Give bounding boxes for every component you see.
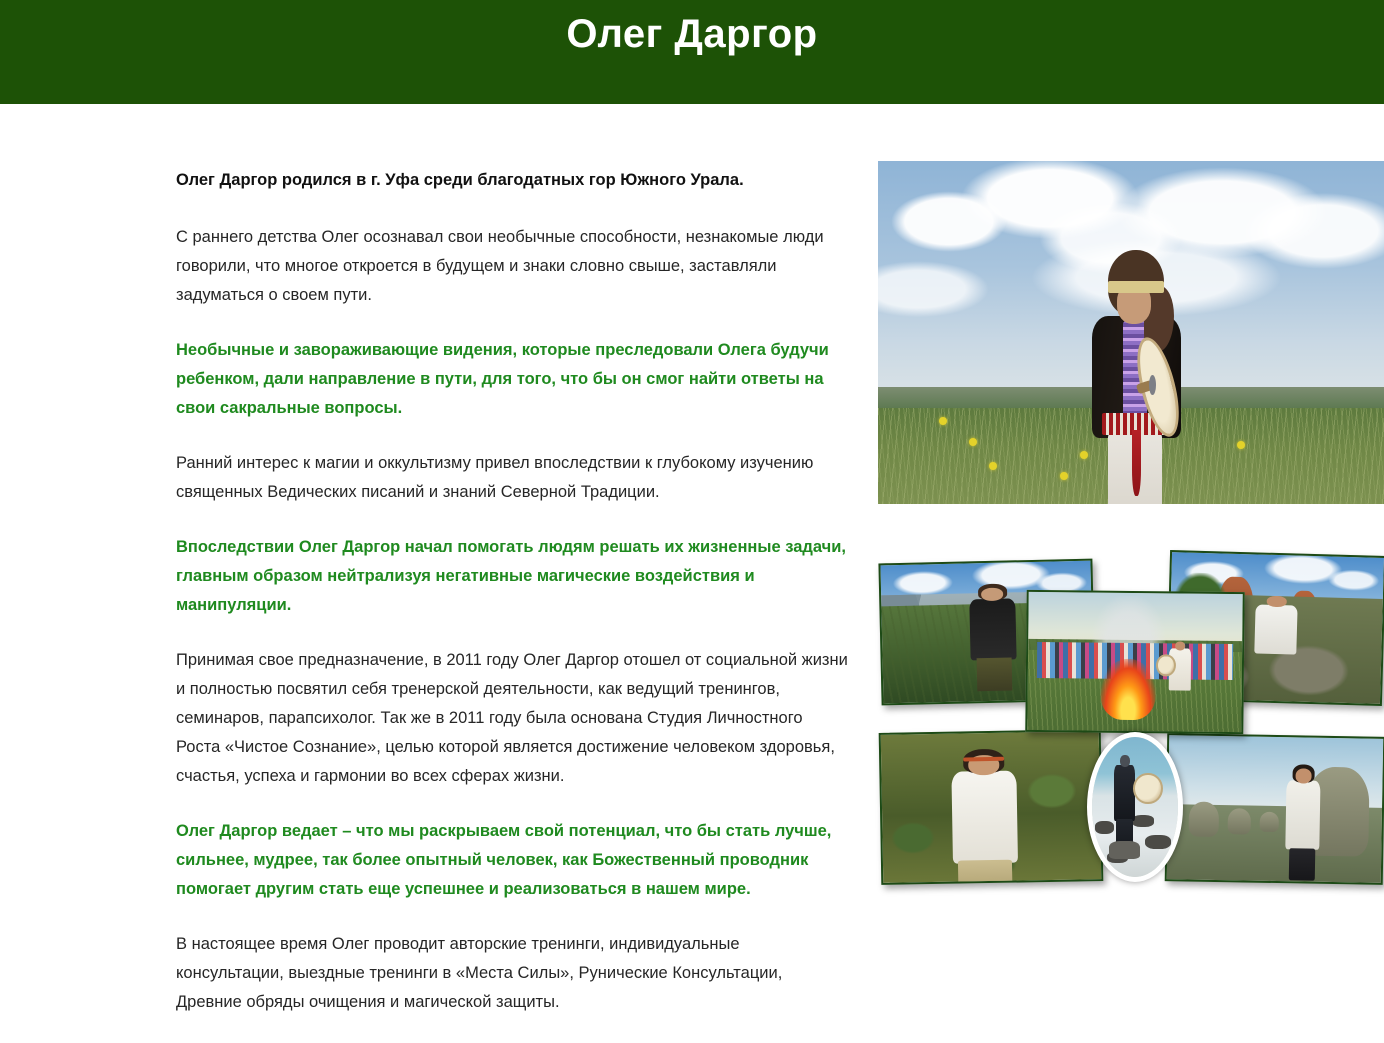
paragraph-early-interest: Ранний интерес к магии и оккультизму при… (176, 449, 848, 507)
media-column (878, 161, 1384, 891)
scene-person-hood (1120, 755, 1130, 767)
scene-person (969, 598, 1017, 660)
paragraph-intro: Олег Даргор родился в г. Уфа среди благо… (176, 166, 848, 195)
collage-scene-bonfire (1027, 592, 1242, 732)
scene-person-head (1175, 641, 1185, 650)
scene-person (1285, 780, 1320, 850)
scene-person (951, 771, 1018, 864)
scene-person-legs (976, 658, 1012, 692)
scene-person (1254, 604, 1298, 655)
collage-photo-bonfire-ritual (1025, 590, 1244, 734)
scene-stone (1189, 802, 1220, 837)
collage-scene-meadow (881, 731, 1102, 883)
biography-article: Олег Даргор родился в г. Уфа среди благо… (176, 166, 848, 1043)
scene-stone (1260, 812, 1280, 832)
scene-stone (1227, 808, 1251, 834)
hero-headband (1108, 281, 1165, 294)
collage-scene-stone-circle (1167, 735, 1383, 883)
scene-person-legs (958, 859, 1012, 885)
hero-flower (969, 438, 977, 446)
hero-tassel (1132, 430, 1141, 496)
collage-photo-winter-drum-oval (1087, 732, 1183, 882)
scene-bonfire (1100, 659, 1156, 720)
paragraph-studio-2011: Принимая свое предназначение, в 2011 год… (176, 646, 848, 791)
scene-person-legs (1289, 848, 1315, 880)
paragraph-childhood: С раннего детства Олег осознавал свои не… (176, 223, 848, 310)
page-body: Олег Даргор родился в г. Уфа среди благо… (0, 104, 1384, 891)
scene-person-head (1295, 768, 1312, 783)
scene-snow-rock (1095, 821, 1114, 834)
hero-flower (989, 462, 997, 470)
hero-photo-shaman-with-drum (878, 161, 1384, 504)
paragraph-current-services: В настоящее время Олег проводит авторски… (176, 930, 848, 1017)
hero-flower (939, 417, 947, 425)
scene-drum (1156, 654, 1175, 676)
scene-person-torso (1285, 780, 1320, 850)
scene-person-torso (951, 771, 1018, 864)
hero-figure-shaman (1085, 250, 1186, 504)
photo-collage (878, 553, 1384, 891)
scene-snow-rock (1145, 835, 1171, 849)
scene-dog (1109, 841, 1140, 859)
scene-person-torso (969, 598, 1017, 660)
collage-photo-stone-circle (1165, 733, 1384, 885)
collage-scene-winter (1092, 737, 1178, 877)
scene-person-torso (1254, 604, 1298, 655)
scene-person-head (1266, 595, 1287, 606)
scene-person-shaman (1114, 765, 1135, 821)
site-header: Олег Даргор (0, 0, 1384, 104)
page-title: Олег Даргор (566, 12, 817, 56)
collage-photo-meadow-portrait (879, 729, 1104, 885)
paragraph-helping-accent: Впоследствии Олег Даргор начал помогать … (176, 533, 848, 620)
scene-person-torso (1114, 765, 1135, 821)
scene-drum (1133, 773, 1162, 804)
paragraph-visions-accent: Необычные и завораживающие видения, кото… (176, 336, 848, 423)
